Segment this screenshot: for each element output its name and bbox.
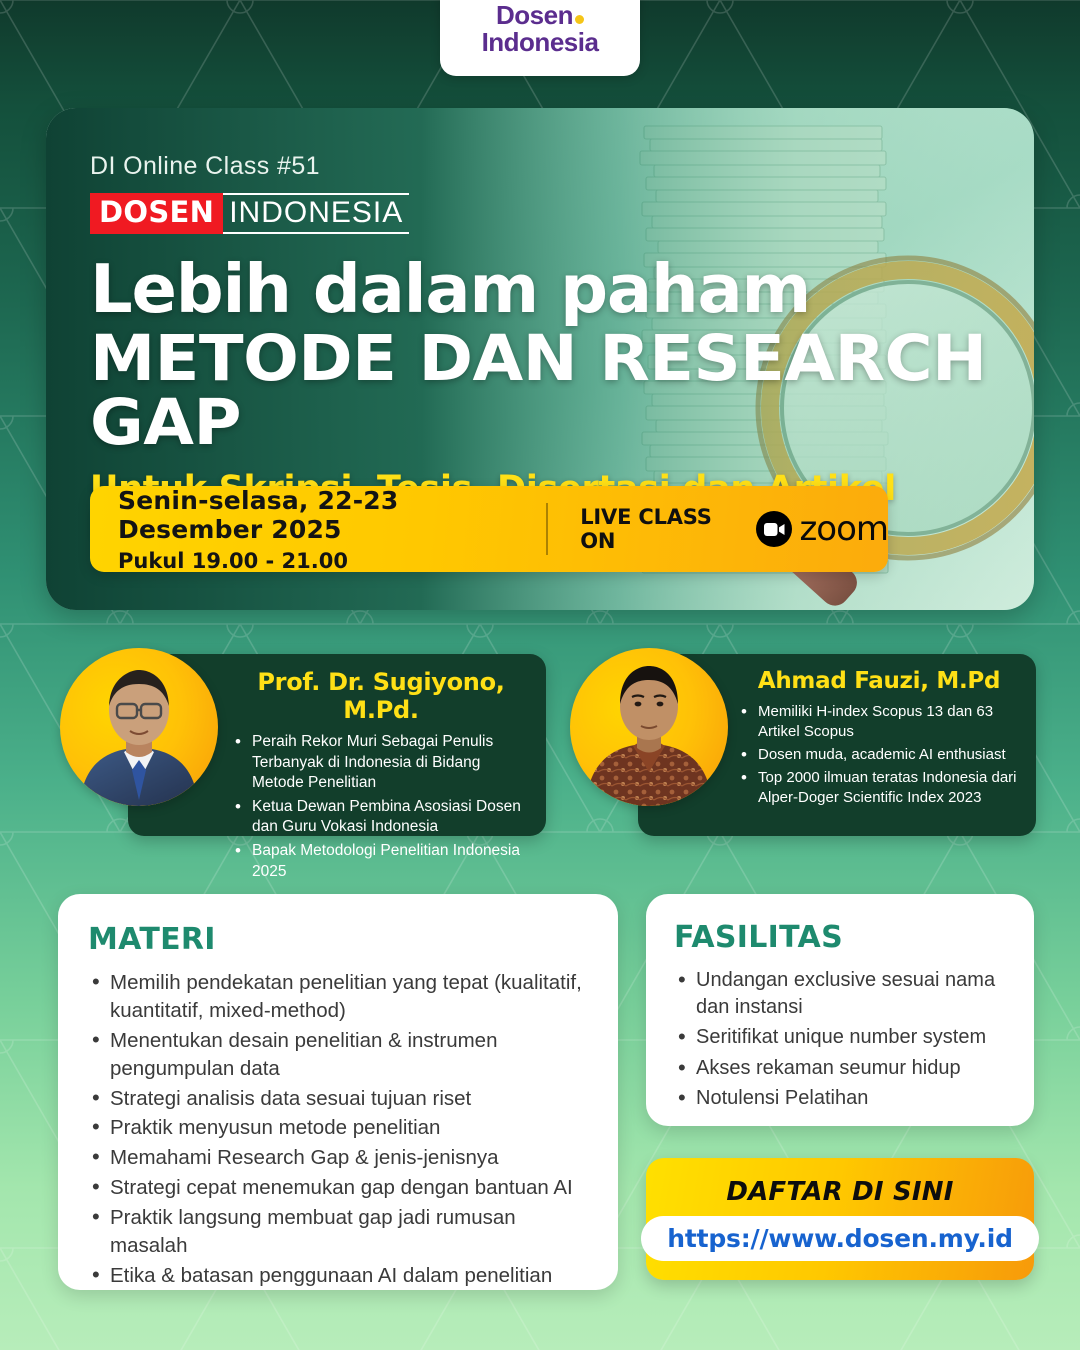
speaker-card-1: Prof. Dr. Sugiyono, M.Pd. Peraih Rekor M… — [128, 654, 546, 836]
fasilitas-list: Undangan exclusive sesuai nama dan insta… — [674, 967, 1014, 1112]
list-item: Akses rekaman seumur hidup — [674, 1055, 1014, 1082]
zoom-logo: zoom — [756, 509, 888, 549]
speaker-photo-2 — [570, 648, 728, 806]
registration-link-pill[interactable]: https://www.dosen.my.id — [641, 1216, 1039, 1261]
live-class-on-label: LIVE CLASS ON — [580, 505, 745, 553]
brand-indonesia-text: INDONESIA — [223, 193, 409, 234]
headline-line-2: METODE DAN RESEARCH GAP — [90, 327, 1034, 456]
list-item: Strategi analisis data sesuai tujuan ris… — [88, 1085, 592, 1113]
yellow-dot-icon — [575, 15, 584, 24]
list-item: Memiliki H-index Scopus 13 dan 63 Artike… — [738, 702, 1020, 742]
materi-panel: MATERI Memilih pendekatan penelitian yan… — [58, 894, 618, 1290]
speaker-card-2: Ahmad Fauzi, M.Pd Memiliki H-index Scopu… — [638, 654, 1036, 836]
schedule-bar: Senin-selasa, 22-23 Desember 2025 Pukul … — [90, 486, 888, 572]
speaker-name-1: Prof. Dr. Sugiyono, M.Pd. — [232, 668, 530, 724]
list-item: Menentukan desain penelitian & instrumen… — [88, 1027, 592, 1083]
list-item: Memahami Research Gap & jenis-jenisnya — [88, 1144, 592, 1172]
live-platform-group: LIVE CLASS ON zoom — [548, 505, 888, 553]
list-item: Etika & batasan penggunaan AI dalam pene… — [88, 1262, 592, 1290]
list-item: Memilih pendekatan penelitian yang tepat… — [88, 969, 592, 1025]
list-item: Strategi cepat menemukan gap dengan bant… — [88, 1174, 592, 1202]
speaker-name-2: Ahmad Fauzi, M.Pd — [738, 668, 1020, 694]
schedule-time: Pukul 19.00 - 21.00 — [118, 549, 546, 573]
materi-list: Memilih pendekatan penelitian yang tepat… — [88, 969, 592, 1290]
list-item: Undangan exclusive sesuai nama dan insta… — [674, 967, 1014, 1021]
hero-brand-lockup: DOSEN INDONESIA — [90, 193, 322, 234]
brand-dosen-badge: DOSEN — [90, 193, 223, 234]
speaker-bullets-2: Memiliki H-index Scopus 13 dan 63 Artike… — [738, 702, 1020, 808]
register-cta-card[interactable]: DAFTAR DI SINI https://www.dosen.my.id — [646, 1158, 1034, 1280]
schedule-text-group: Senin-selasa, 22-23 Desember 2025 Pukul … — [90, 486, 546, 573]
list-item: Praktik langsung membuat gap jadi rumusa… — [88, 1204, 592, 1260]
list-item: Peraih Rekor Muri Sebagai Penulis Terban… — [232, 732, 530, 794]
logo-line-indonesia: Indonesia — [482, 29, 599, 56]
fasilitas-panel: FASILITAS Undangan exclusive sesuai nama… — [646, 894, 1034, 1126]
schedule-date: Senin-selasa, 22-23 Desember 2025 — [118, 486, 546, 544]
hero-card: DI Online Class #51 DOSEN INDONESIA Lebi… — [46, 108, 1034, 610]
logo-line-dosen: Dosen — [496, 2, 584, 29]
brand-logo: Dosen Indonesia — [440, 0, 640, 76]
materi-title: MATERI — [88, 922, 592, 957]
speaker-photo-1 — [60, 648, 218, 806]
speaker-bullets-1: Peraih Rekor Muri Sebagai Penulis Terban… — [232, 732, 530, 882]
zoom-camera-icon — [756, 511, 792, 547]
list-item: Seritifikat unique number system — [674, 1024, 1014, 1051]
list-item: Ketua Dewan Pembina Asosiasi Dosen dan G… — [232, 797, 530, 838]
registration-url[interactable]: https://www.dosen.my.id — [667, 1224, 1013, 1253]
fasilitas-title: FASILITAS — [674, 920, 1014, 955]
list-item: Dosen muda, academic AI enthusiast — [738, 745, 1020, 765]
class-number-label: DI Online Class #51 — [90, 152, 1034, 181]
cta-title: DAFTAR DI SINI — [726, 1177, 953, 1207]
headline-line-1: Lebih dalam paham — [90, 256, 1034, 323]
zoom-wordmark: zoom — [799, 509, 888, 549]
list-item: Top 2000 ilmuan teratas Indonesia dari A… — [738, 768, 1020, 808]
list-item: Bapak Metodologi Penelitian Indonesia 20… — [232, 841, 530, 882]
list-item: Praktik menyusun metode penelitian — [88, 1114, 592, 1142]
list-item: Notulensi Pelatihan — [674, 1085, 1014, 1112]
